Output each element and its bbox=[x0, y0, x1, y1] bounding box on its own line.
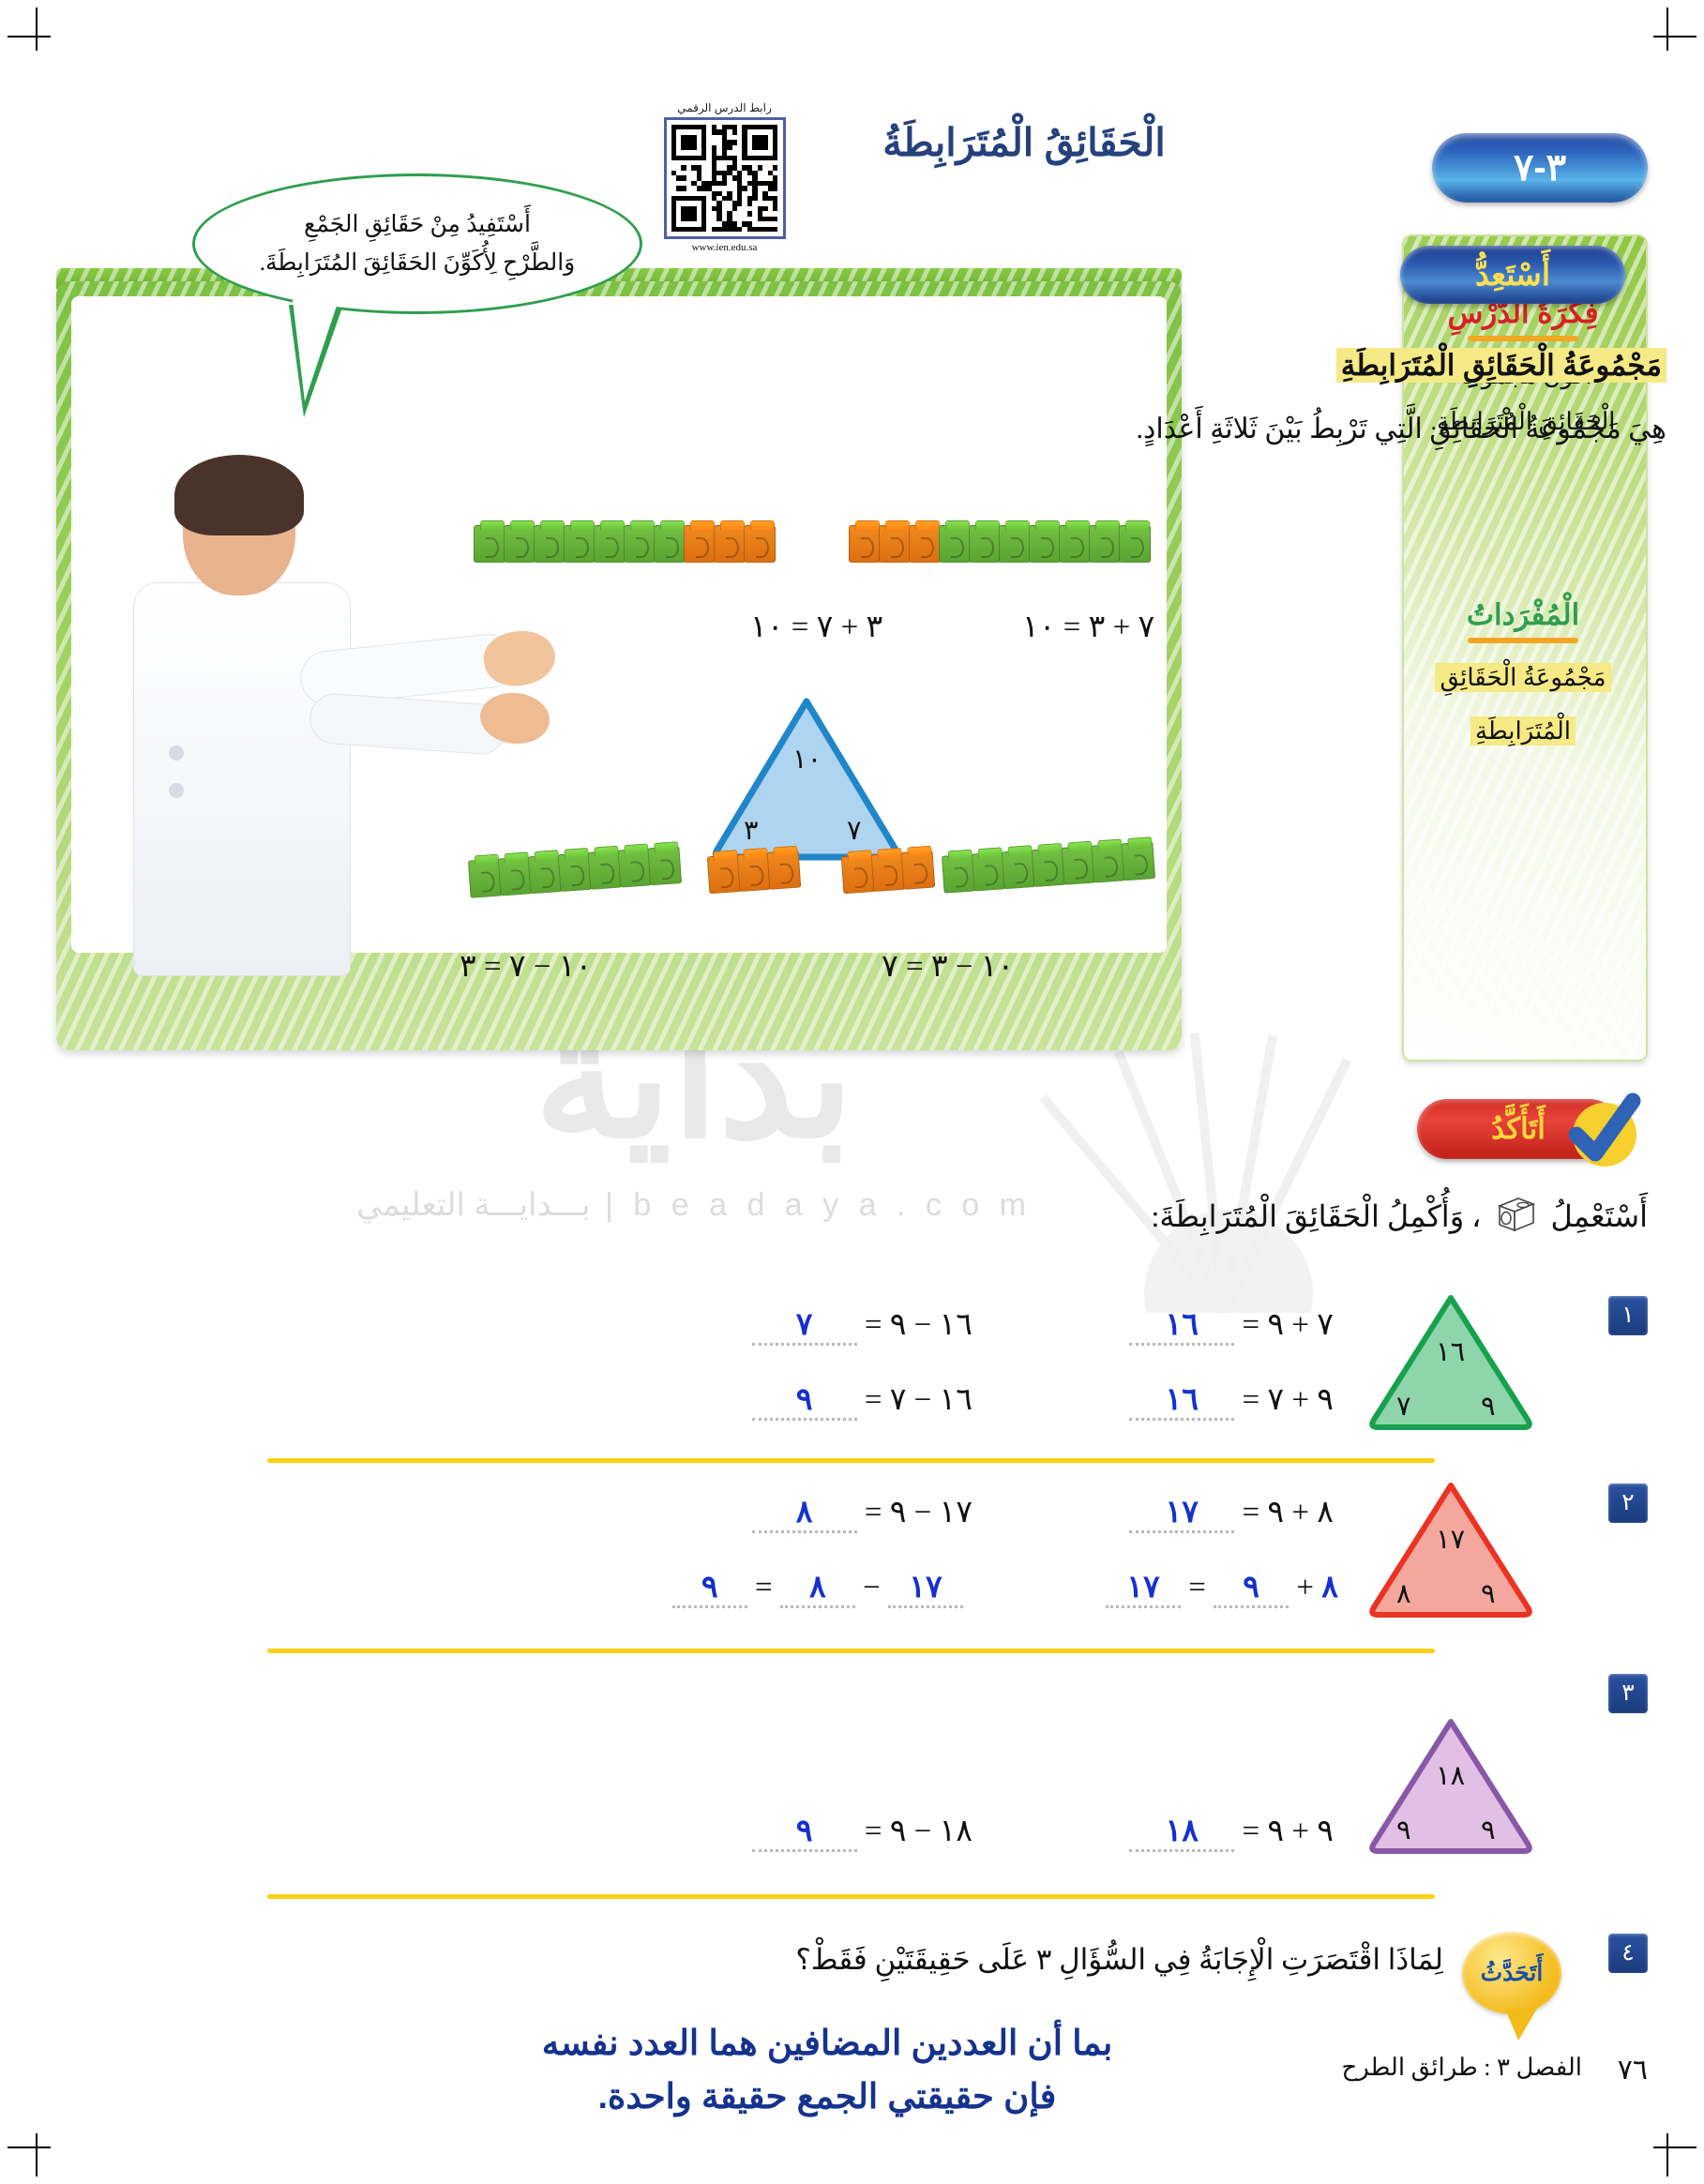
page-title: الْحَقَائِقُ الْمُتَرَابِطَةُ bbox=[804, 120, 1244, 165]
cube bbox=[564, 525, 596, 563]
vocabulary-heading: الْمُفْرَداتُ bbox=[1411, 598, 1635, 632]
fact-triangle-demo: ١٠ ٣ ٧ bbox=[708, 694, 905, 863]
talk-answer-line1: بما أن العددين المضافين هما العدد نفسه bbox=[354, 2016, 1301, 2070]
fact-triangle-3: ١٨ ٩ ٩ bbox=[1366, 1716, 1535, 1857]
cube bbox=[588, 851, 623, 890]
cube bbox=[1121, 841, 1155, 881]
cube bbox=[534, 525, 565, 563]
cube bbox=[841, 854, 876, 894]
cube bbox=[624, 525, 656, 563]
section-divider bbox=[267, 1458, 1435, 1463]
answer-blank[interactable]: ٩ bbox=[752, 1812, 857, 1852]
answer-blank[interactable]: ١٦ bbox=[1129, 1380, 1234, 1421]
answer-blank[interactable]: ٨ bbox=[752, 1493, 857, 1533]
triangle-1-left: ٧ bbox=[1396, 1390, 1411, 1423]
expr: ١٧ − ٩ = bbox=[865, 1496, 973, 1529]
operator: + bbox=[1296, 1571, 1314, 1604]
demo-equation-add-left: ٣ + ٧ = ١٠ bbox=[750, 608, 882, 645]
blank-term1[interactable]: ١٧ bbox=[888, 1568, 963, 1608]
demo-equation-sub-right: ١٠ − ٣ = ٧ bbox=[882, 947, 1014, 985]
demo-equation-add-right: ٧ + ٣ = ١٠ bbox=[1022, 608, 1154, 645]
student-photo bbox=[113, 464, 506, 1046]
cube-row-top-right bbox=[849, 525, 1149, 563]
cube bbox=[901, 851, 936, 890]
textbook-page: بداية b e a d a y a . c o m | بـــدايـــ… bbox=[0, 0, 1704, 2184]
crop-mark bbox=[8, 36, 51, 38]
triangle-top-number: ١٠ bbox=[792, 743, 822, 776]
watermark-tagline: b e a d a y a . c o m | بـــدايـــة التع… bbox=[169, 1186, 1219, 1243]
exercise-1-row2-left[interactable]: ١٦ − ٧ = ٩ bbox=[752, 1380, 973, 1421]
cube bbox=[737, 852, 772, 892]
prepare-badge: أَسْتَعِدُّ bbox=[1400, 246, 1625, 304]
question-number-1: ١ bbox=[1608, 1296, 1648, 1335]
answer-blank[interactable]: ١٦ bbox=[1129, 1305, 1234, 1346]
qr-code[interactable] bbox=[664, 117, 786, 239]
exercise-3-row1-left[interactable]: ١٨ − ٩ = ٩ bbox=[752, 1812, 973, 1852]
cube bbox=[647, 846, 682, 885]
talk-answer: بما أن العددين المضافين هما العدد نفسه ف… bbox=[354, 2016, 1301, 2124]
cube bbox=[909, 525, 941, 563]
expr: ٨ + ٩ = bbox=[1243, 1496, 1334, 1529]
triangle-3-left: ٩ bbox=[1396, 1814, 1411, 1846]
triangle-2-left: ٨ bbox=[1396, 1577, 1411, 1610]
exercise-instruction: أَسْتَعْمِلُ ، وَأُكْمِلُ الْحَقَائِقَ ا… bbox=[1151, 1193, 1648, 1236]
equals: = bbox=[755, 1571, 773, 1604]
section-divider bbox=[267, 1649, 1435, 1653]
exercise-2-row1-left[interactable]: ١٧ − ٩ = ٨ bbox=[752, 1493, 973, 1533]
expr: ١٦ − ٧ = bbox=[865, 1383, 973, 1417]
cube bbox=[594, 525, 626, 563]
checkmark-icon bbox=[1556, 1086, 1646, 1176]
cube-row-top-left bbox=[474, 525, 774, 563]
triangle-1-top: ١٦ bbox=[1436, 1335, 1465, 1368]
cube-icon bbox=[1494, 1193, 1537, 1236]
cube bbox=[528, 854, 563, 894]
triangle-left-number: ٣ bbox=[744, 814, 759, 847]
answer-blank[interactable]: ٩ bbox=[672, 1568, 747, 1608]
cube bbox=[1089, 525, 1121, 563]
cube bbox=[617, 848, 652, 887]
exercise-2-row2-right[interactable]: ٨ + ٩ = ١٧ bbox=[1106, 1568, 1338, 1608]
instruction-text-after: ، وَأُكْمِلُ الْحَقَائِقَ الْمُتَرَابِطَ… bbox=[1151, 1199, 1481, 1233]
cube bbox=[1002, 850, 1036, 889]
cube bbox=[969, 525, 1001, 563]
blank-term2[interactable]: ٨ bbox=[780, 1568, 855, 1608]
expr: ٧ + ٩ = bbox=[1243, 1308, 1334, 1342]
exercise-2-row1-right[interactable]: ٨ + ٩ = ١٧ bbox=[1129, 1493, 1334, 1533]
equals: = bbox=[1188, 1571, 1206, 1604]
crop-mark bbox=[1666, 2133, 1668, 2176]
cube bbox=[767, 851, 802, 890]
divider-rule bbox=[1468, 336, 1578, 341]
definition-term: مَجْمُوعَةُ الْحَقَائِقِ الْمُتَرَابِطَة… bbox=[1336, 349, 1666, 383]
cube bbox=[879, 525, 911, 563]
cube bbox=[1029, 525, 1061, 563]
exercise-1-row1-left[interactable]: ١٦ − ٩ = ٧ bbox=[752, 1305, 973, 1346]
cube bbox=[714, 525, 746, 563]
expr: ١٦ − ٩ = bbox=[865, 1308, 973, 1342]
question-number-2: ٢ bbox=[1608, 1484, 1648, 1523]
triangle-2-top: ١٧ bbox=[1436, 1523, 1465, 1556]
cube bbox=[1059, 525, 1091, 563]
expr: ١٨ − ٩ = bbox=[865, 1815, 973, 1848]
cube bbox=[1062, 846, 1096, 885]
footer-chapter: الفصل ٣ : طرائق الطرح bbox=[1341, 2054, 1582, 2082]
fact-triangle-1: ١٦ ٧ ٩ bbox=[1366, 1292, 1535, 1433]
answer-blank[interactable]: ١٨ bbox=[1129, 1812, 1234, 1852]
cube bbox=[972, 851, 1006, 891]
definition-body: هِيَ مَجْمُوعَةُ الْحَقَائِقِ الَّتِي تَ… bbox=[1137, 413, 1666, 445]
triangle-2-right: ٩ bbox=[1481, 1577, 1496, 1610]
cube-row-bottom-right-orange bbox=[841, 851, 934, 895]
cube bbox=[942, 853, 976, 893]
cube bbox=[684, 525, 716, 563]
lesson-number-badge: ٣-٧ bbox=[1432, 133, 1648, 203]
blank-term2[interactable]: ٩ bbox=[1214, 1568, 1289, 1608]
exercise-1-row1-right[interactable]: ٧ + ٩ = ١٦ bbox=[1129, 1305, 1334, 1346]
speech-bubble-line2: وَالطَّرْحِ لِأُكَوِّنَ الحَقَائِقَ المُ… bbox=[234, 244, 600, 282]
vocabulary-term-line1: مَجْمُوعَةُ الْحَقَائِقِ bbox=[1435, 663, 1610, 692]
cube bbox=[849, 525, 881, 563]
talk-badge: أَتَحَدَّثُ bbox=[1462, 1932, 1561, 2014]
talk-question: لِمَاذَا اقْتَصَرَتِ الْإِجَابَةُ فِي ال… bbox=[795, 1943, 1443, 1977]
cube bbox=[1119, 525, 1151, 563]
cube bbox=[744, 525, 776, 563]
exercise-1-row2-right[interactable]: ٩ + ٧ = ١٦ bbox=[1129, 1380, 1334, 1421]
cube bbox=[1032, 848, 1066, 887]
exercise-2-row2-left[interactable]: ١٧ − ٨ = ٩ bbox=[672, 1568, 963, 1608]
answer-blank[interactable]: ١٧ bbox=[1106, 1568, 1181, 1608]
crop-mark bbox=[8, 2146, 51, 2148]
cube bbox=[871, 852, 906, 892]
qr-label: رابط الدرس الرقمي bbox=[656, 101, 792, 114]
question-number-3: ٣ bbox=[1608, 1674, 1648, 1713]
answer-blank[interactable]: ١٧ bbox=[1129, 1493, 1234, 1533]
cube bbox=[999, 525, 1031, 563]
talk-answer-line2: فإن حقيقتي الجمع حقيقة واحدة. bbox=[354, 2070, 1301, 2123]
answer-blank[interactable]: ٧ bbox=[752, 1305, 857, 1346]
triangle-3-right: ٩ bbox=[1481, 1814, 1496, 1846]
cube bbox=[707, 854, 742, 894]
footer-page-number: ٧٦ bbox=[1618, 2054, 1648, 2086]
cube bbox=[504, 525, 535, 563]
cube bbox=[1091, 843, 1125, 882]
cube bbox=[558, 852, 593, 892]
cube-row-bottom-left-orange bbox=[707, 851, 800, 895]
section-divider bbox=[267, 1894, 1435, 1899]
vocabulary-block: الْمُفْرَداتُ مَجْمُوعَةُ الْحَقَائِقِ ا… bbox=[1400, 598, 1646, 755]
talk-badge-tail bbox=[1505, 2009, 1537, 2041]
fact-triangle-2: ١٧ ٨ ٩ bbox=[1366, 1480, 1535, 1620]
crop-mark bbox=[1653, 36, 1696, 38]
exercise-3-row1-right[interactable]: ٩ + ٩ = ١٨ bbox=[1129, 1812, 1334, 1852]
speech-bubble-line1: أَسْتَفِيدُ مِنْ حَقَائِقِ الجَمْعِ bbox=[234, 205, 600, 244]
crop-mark bbox=[36, 8, 38, 51]
crop-mark bbox=[1653, 2146, 1696, 2148]
operator: − bbox=[863, 1571, 881, 1604]
vocabulary-term-line2: الْمُتَرَابِطَةِ bbox=[1470, 716, 1576, 746]
question-number-4: ٤ bbox=[1608, 1934, 1648, 1973]
answer-blank[interactable]: ٩ bbox=[752, 1380, 857, 1421]
triangle-1-right: ٩ bbox=[1481, 1390, 1496, 1423]
triangle-right-number: ٧ bbox=[847, 814, 862, 847]
qr-block: رابط الدرس الرقمي www.ien.edu.sa bbox=[656, 101, 792, 253]
expr: ٩ + ٧ = bbox=[1243, 1383, 1334, 1417]
expr-term1: ٨ bbox=[1321, 1571, 1338, 1604]
qr-url: www.ien.edu.sa bbox=[656, 242, 792, 253]
expr: ٩ + ٩ = bbox=[1243, 1815, 1334, 1848]
cube bbox=[654, 525, 686, 563]
speech-bubble: أَسْتَفِيدُ مِنْ حَقَائِقِ الجَمْعِ وَال… bbox=[192, 173, 642, 314]
crop-mark bbox=[1666, 8, 1668, 51]
speech-bubble-tail-inner bbox=[293, 300, 339, 401]
cube bbox=[939, 525, 971, 563]
triangle-3-top: ١٨ bbox=[1436, 1759, 1465, 1792]
divider-rule bbox=[1468, 638, 1578, 643]
instruction-text-before: أَسْتَعْمِلُ bbox=[1550, 1199, 1648, 1233]
crop-mark bbox=[36, 2133, 38, 2176]
